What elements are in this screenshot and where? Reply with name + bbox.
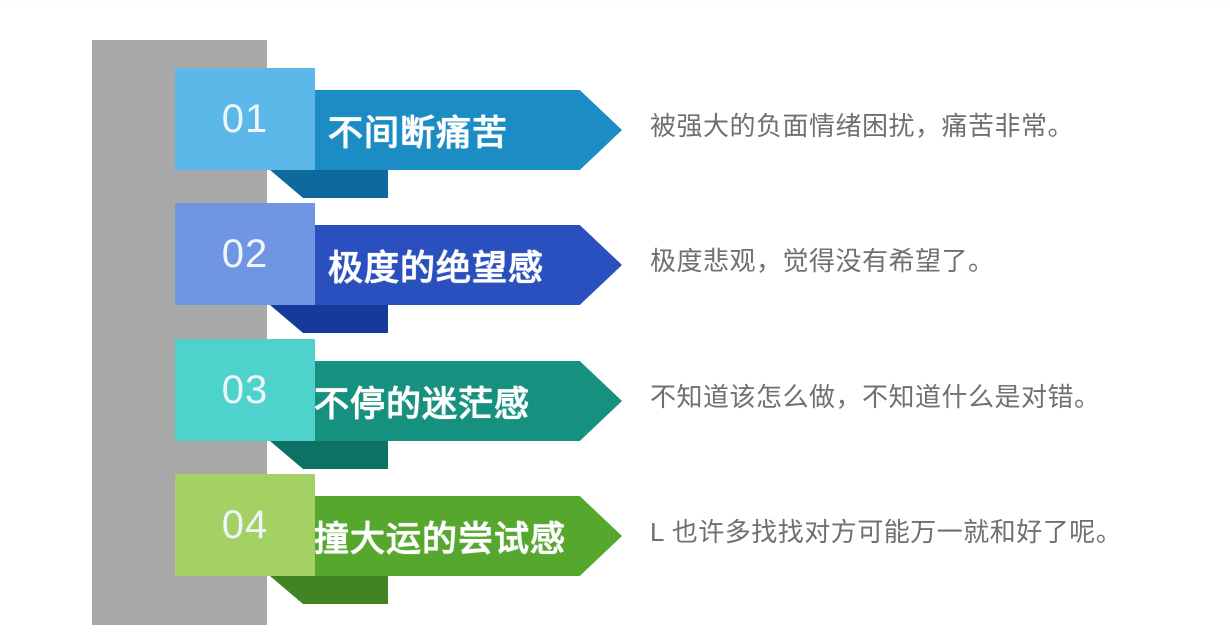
number-label-1: 01 <box>222 99 269 139</box>
chevron-banner-2[interactable]: 极度的绝望感 <box>270 225 622 305</box>
chevron-title-2: 极度的绝望感 <box>328 240 544 291</box>
ribbon-fold-2 <box>270 305 388 333</box>
list-item[interactable]: 撞大运的尝试感 04 L 也许多找找对方可能万一就和好了呢。 <box>0 474 1230 592</box>
list-item[interactable]: 极度的绝望感 02 极度悲观，觉得没有希望了。 <box>0 203 1230 321</box>
number-label-2: 02 <box>222 234 269 274</box>
description-text-1: 被强大的负面情绪困扰，痛苦非常。 <box>650 106 1074 143</box>
list-item[interactable]: 不间断痛苦 01 被强大的负面情绪困扰，痛苦非常。 <box>0 68 1230 186</box>
list-item[interactable]: 不停的迷茫感 03 不知道该怎么做，不知道什么是对错。 <box>0 339 1230 457</box>
description-text-3: 不知道该怎么做，不知道什么是对错。 <box>650 377 1101 414</box>
number-label-3: 03 <box>222 370 269 410</box>
chevron-title-1: 不间断痛苦 <box>328 105 508 156</box>
chevron-banner-3[interactable]: 不停的迷茫感 <box>270 361 622 441</box>
number-chip-1[interactable]: 01 <box>175 68 315 170</box>
ribbon-fold-4 <box>270 576 388 604</box>
number-chip-2[interactable]: 02 <box>175 203 315 305</box>
chevron-banner-1[interactable]: 不间断痛苦 <box>270 90 622 170</box>
number-label-4: 04 <box>222 505 269 545</box>
ribbon-fold-1 <box>270 170 388 198</box>
description-text-2: 极度悲观，觉得没有希望了。 <box>650 241 995 278</box>
description-text-4: L 也许多找找对方可能万一就和好了呢。 <box>650 512 1122 549</box>
chevron-title-3: 不停的迷茫感 <box>314 376 530 427</box>
chevron-banner-4[interactable]: 撞大运的尝试感 <box>270 496 622 576</box>
slide-canvas: 不间断痛苦 01 被强大的负面情绪困扰，痛苦非常。 极度的绝望感 02 极度悲观… <box>0 0 1230 634</box>
number-chip-3[interactable]: 03 <box>175 339 315 441</box>
number-chip-4[interactable]: 04 <box>175 474 315 576</box>
ribbon-fold-3 <box>270 441 388 469</box>
chevron-title-4: 撞大运的尝试感 <box>314 511 566 562</box>
